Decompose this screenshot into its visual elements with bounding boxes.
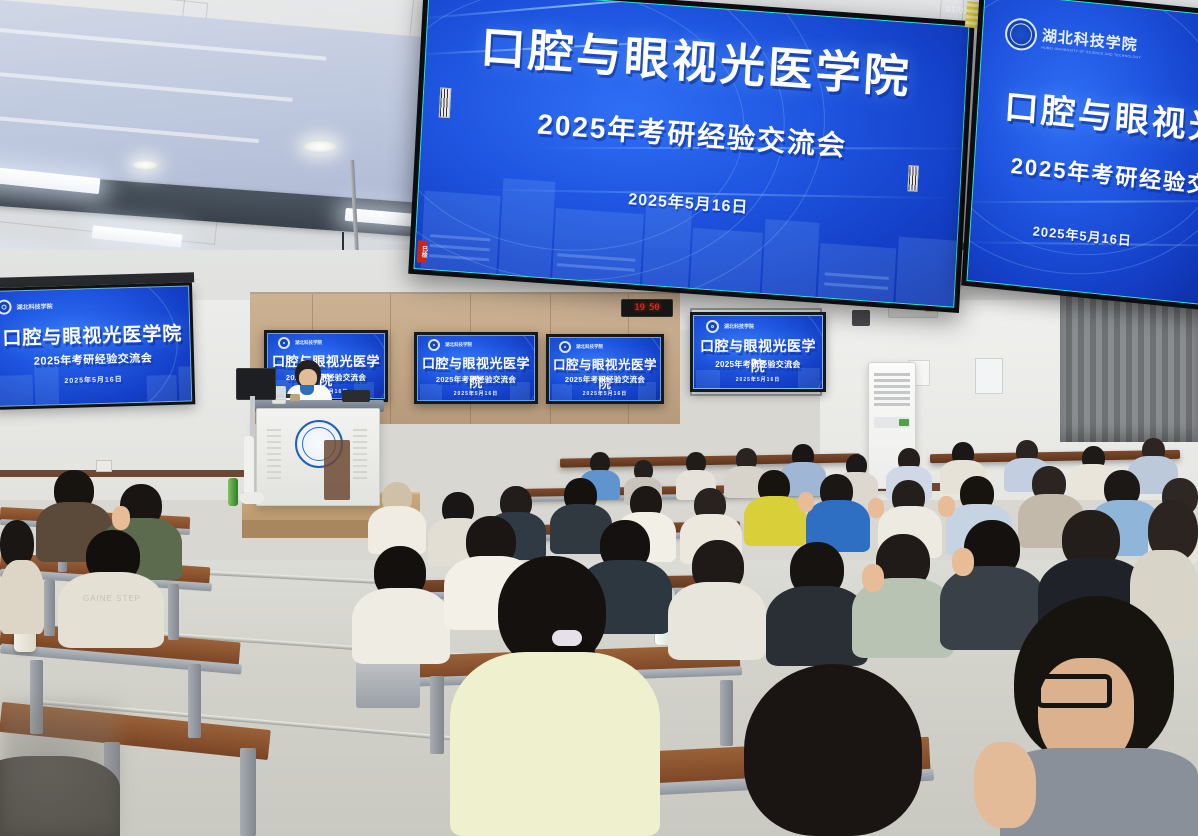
hair-tie (552, 630, 582, 646)
clapping-hand (974, 742, 1036, 828)
audience-foreground (0, 0, 1198, 836)
foreground-head-curly (744, 664, 922, 836)
lecture-hall-photo: 口腔与眼视光医学院 2025年考研经验交流会 2025年5月16日 已检 01/… (0, 0, 1198, 836)
foreground-torso (450, 652, 660, 836)
eyeglasses-icon (1036, 674, 1112, 708)
foreground-blur (0, 700, 120, 836)
